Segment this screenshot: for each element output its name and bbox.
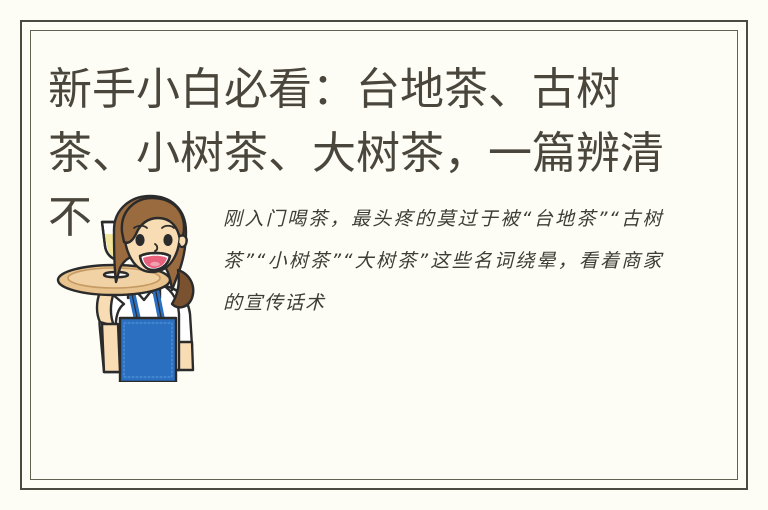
article-body-text-content: 刚入门喝茶，最头疼的莫过于被“台地茶”“古树茶”“小树茶”“大树茶”这些名词绕晕… xyxy=(223,208,663,314)
waitress-with-tray-icon xyxy=(52,194,212,382)
card-content: 新手小白必看：台地茶、古树茶、小树茶、大树茶，一篇辨清不 xyxy=(30,30,738,480)
article-body-text: 刚入门喝茶，最头疼的莫过于被“台地茶”“古树茶”“小树茶”“大树茶”这些名词绕晕… xyxy=(223,198,663,324)
body-section: 刚入门喝茶，最头疼的莫过于被“台地茶”“古树茶”“小树茶”“大树茶”这些名词绕晕… xyxy=(30,190,738,420)
article-card: 新手小白必看：台地茶、古树茶、小树茶、大树茶，一篇辨清不 xyxy=(0,0,768,510)
